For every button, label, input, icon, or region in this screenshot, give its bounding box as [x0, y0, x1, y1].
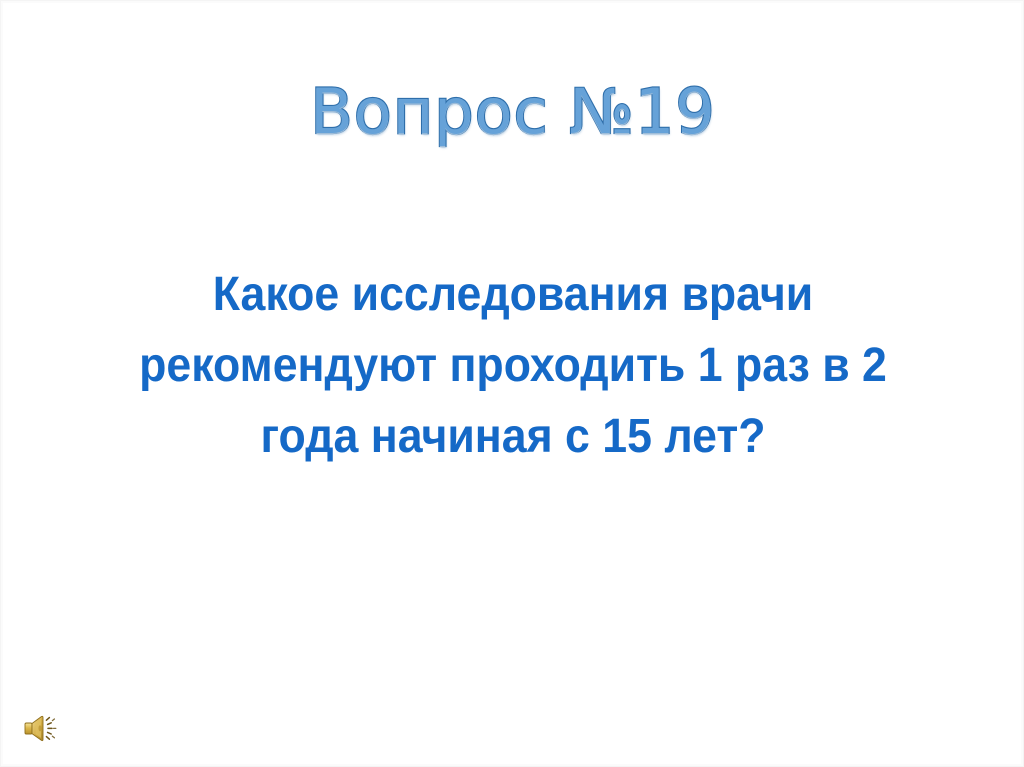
- question-text-block: Какое исследования врачи рекомендуют про…: [25, 259, 1001, 472]
- question-line-2: рекомендуют проходить 1 раз в 2: [59, 330, 967, 401]
- question-line-3: года начиная с 15 лет?: [59, 401, 967, 472]
- slide-title-block: Вопрос №19: [1, 79, 1024, 144]
- slide-canvas: Вопрос №19 Какое исследования врачи реко…: [0, 0, 1024, 767]
- speaker-sound-icon[interactable]: [20, 708, 60, 748]
- page-title: Вопрос №19: [310, 79, 715, 144]
- question-line-1: Какое исследования врачи: [59, 259, 967, 330]
